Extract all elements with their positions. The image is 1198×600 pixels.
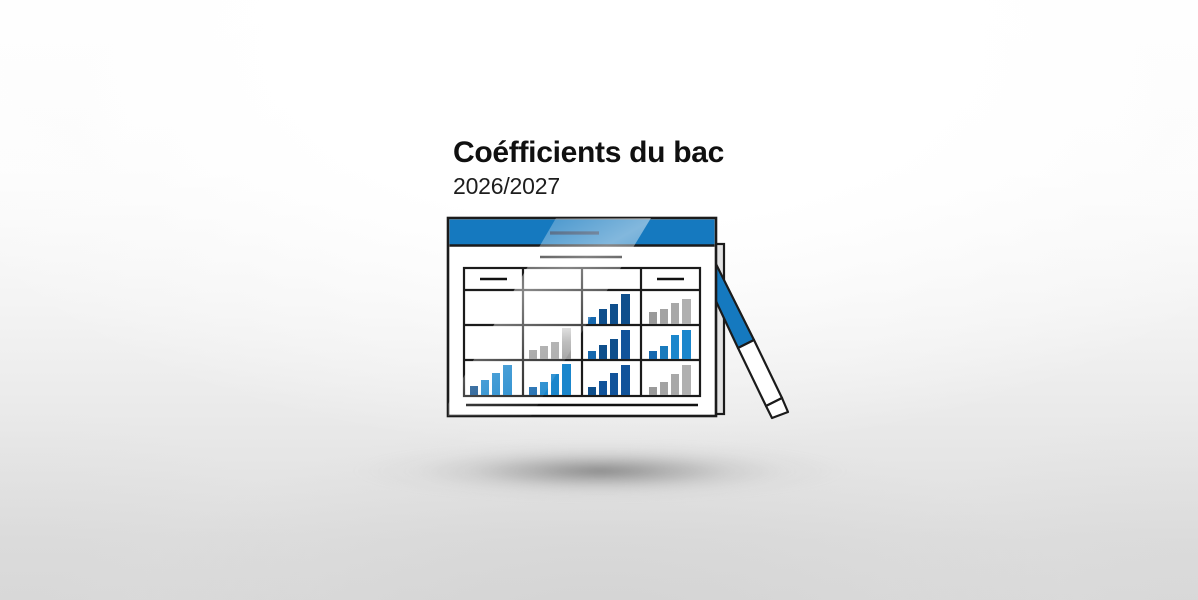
illustration-svg <box>436 208 796 428</box>
page-title: Coéfficients du bac <box>453 136 973 170</box>
drop-shadow <box>350 440 850 502</box>
pen-barrel <box>738 340 782 406</box>
spreadsheet-illustration <box>436 208 796 428</box>
page-canvas: Coéfficients du bac 2026/2027 <box>0 0 1198 600</box>
page-subtitle: 2026/2027 <box>453 173 973 200</box>
spreadsheet-card <box>441 218 716 416</box>
heading-block: Coéfficients du bac 2026/2027 <box>453 136 973 200</box>
